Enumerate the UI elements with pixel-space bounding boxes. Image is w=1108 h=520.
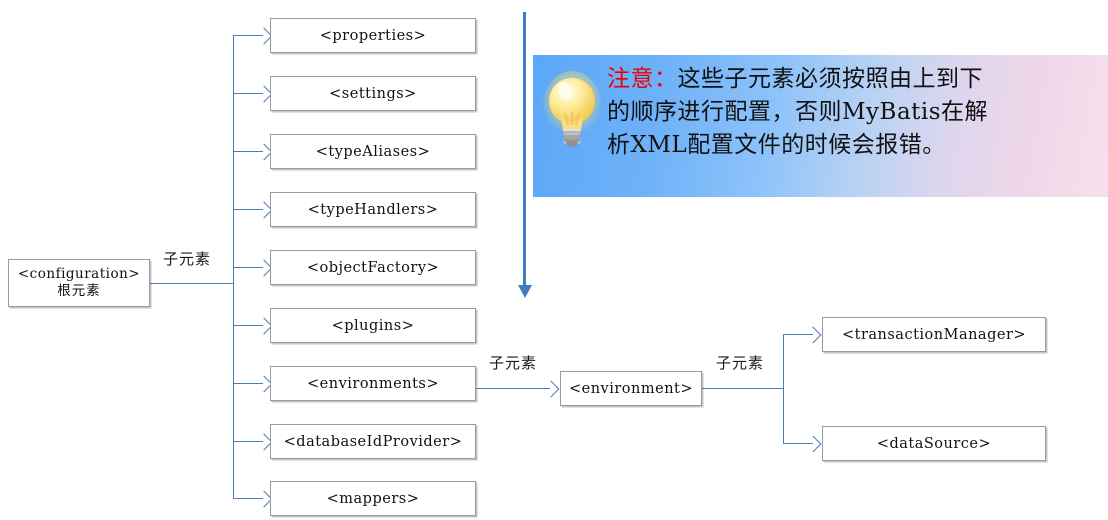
node-transactionmanager[interactable]: <transactionManager>	[822, 317, 1046, 352]
node-databaseidprovider-label: <databaseIdProvider>	[284, 434, 463, 450]
node-settings[interactable]: <settings>	[270, 76, 476, 111]
node-typehandlers[interactable]: <typeHandlers>	[270, 192, 476, 227]
node-objectfactory[interactable]: <objectFactory>	[270, 250, 476, 285]
node-mappers[interactable]: <mappers>	[270, 481, 476, 516]
node-configuration-tag: <configuration>	[18, 266, 140, 283]
edge-label-root-children: 子元素	[163, 248, 211, 269]
node-configuration-subtitle: 根元素	[57, 283, 101, 300]
ordering-arrow-head	[518, 285, 532, 298]
ordering-arrow-shaft	[523, 12, 526, 287]
edge-environment-to-trunk	[702, 388, 784, 389]
edge-root-to-trunk	[150, 283, 234, 284]
node-typealiases[interactable]: <typeAliases>	[270, 134, 476, 169]
trunk-vertical-line-environment	[783, 334, 784, 444]
node-environments[interactable]: <environments>	[270, 366, 476, 401]
node-typehandlers-label: <typeHandlers>	[308, 202, 439, 218]
node-plugins[interactable]: <plugins>	[270, 308, 476, 343]
node-environment[interactable]: <environment>	[560, 371, 702, 406]
diagram-canvas: <configuration> 根元素 子元素 <properties> <se…	[0, 0, 1108, 520]
node-environments-label: <environments>	[307, 376, 439, 392]
node-transactionmanager-label: <transactionManager>	[842, 327, 1026, 343]
lightbulb-icon	[543, 67, 601, 159]
node-plugins-label: <plugins>	[332, 318, 415, 334]
node-properties-label: <properties>	[320, 28, 427, 44]
node-datasource-label: <dataSource>	[877, 436, 991, 452]
edge-environments-to-environment	[476, 388, 550, 389]
edge-label-environments-children: 子元素	[489, 352, 537, 373]
note-text: 注意：这些子元素必须按照由上到下 的顺序进行配置，否则MyBatis在解 析XM…	[607, 63, 1102, 162]
note-keyword: 注意：	[607, 66, 678, 92]
node-configuration[interactable]: <configuration> 根元素	[8, 259, 150, 307]
node-environment-label: <environment>	[569, 381, 693, 397]
node-datasource[interactable]: <dataSource>	[822, 426, 1046, 461]
node-settings-label: <settings>	[329, 86, 417, 102]
node-mappers-label: <mappers>	[327, 491, 420, 507]
note-callout: 注意：这些子元素必须按照由上到下 的顺序进行配置，否则MyBatis在解 析XM…	[533, 55, 1108, 197]
note-line-2: 的顺序进行配置，否则MyBatis在解	[607, 96, 1102, 129]
note-line-3: 析XML配置文件的时候会报错。	[607, 129, 1102, 162]
node-databaseidprovider[interactable]: <databaseIdProvider>	[270, 424, 476, 459]
note-line-1-rest: 这些子元素必须按照由上到下	[678, 66, 984, 92]
branch-arrowhead-transactionmanager	[805, 327, 822, 344]
node-properties[interactable]: <properties>	[270, 18, 476, 53]
node-objectfactory-label: <objectFactory>	[307, 260, 439, 276]
node-typealiases-label: <typeAliases>	[316, 144, 431, 160]
edge-arrowhead-environment	[543, 381, 560, 398]
edge-label-environment-children: 子元素	[716, 352, 764, 373]
branch-arrowhead-datasource	[805, 436, 822, 453]
note-line-1: 注意：这些子元素必须按照由上到下	[607, 63, 1102, 96]
